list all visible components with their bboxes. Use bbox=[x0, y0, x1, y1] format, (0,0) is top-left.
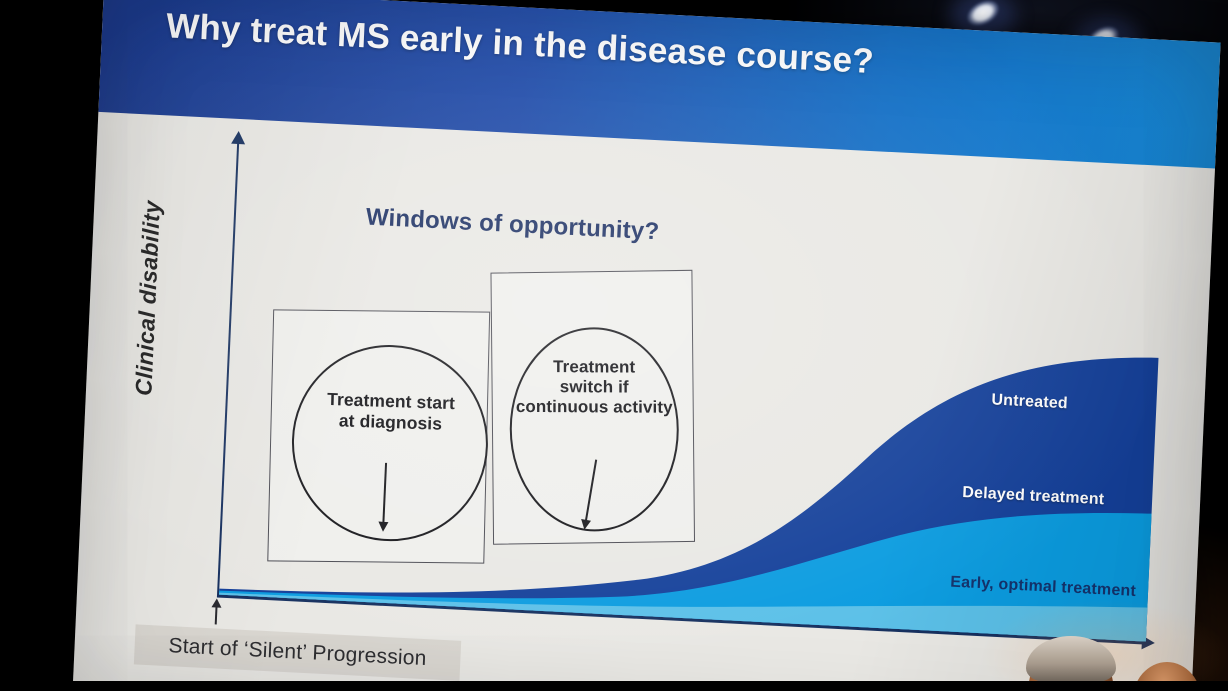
callout-2-line-3: continuous activity bbox=[516, 397, 673, 417]
conference-photo-stage: Why treat MS early in the disease course… bbox=[0, 0, 1228, 691]
callout-circle-1-text: Treatment start at diagnosis bbox=[326, 389, 455, 435]
slide-chart-area: Clinical disability Windows of opportuni… bbox=[73, 112, 1215, 691]
presentation-slide: Why treat MS early in the disease course… bbox=[73, 0, 1221, 691]
callout-2-line-2: switch if bbox=[560, 377, 629, 396]
callout-2-line-1: Treatment bbox=[553, 357, 635, 376]
callout-circle-2-text: Treatment switch if continuous activity bbox=[512, 357, 677, 418]
band-label-untreated: Untreated bbox=[991, 391, 1068, 413]
foreground-shadow bbox=[0, 681, 1228, 691]
projection-screen: Why treat MS early in the disease course… bbox=[73, 0, 1221, 691]
callout-circle-treatment-switch: Treatment switch if continuous activity bbox=[510, 327, 679, 532]
callout-1-line-2: at diagnosis bbox=[339, 410, 443, 433]
